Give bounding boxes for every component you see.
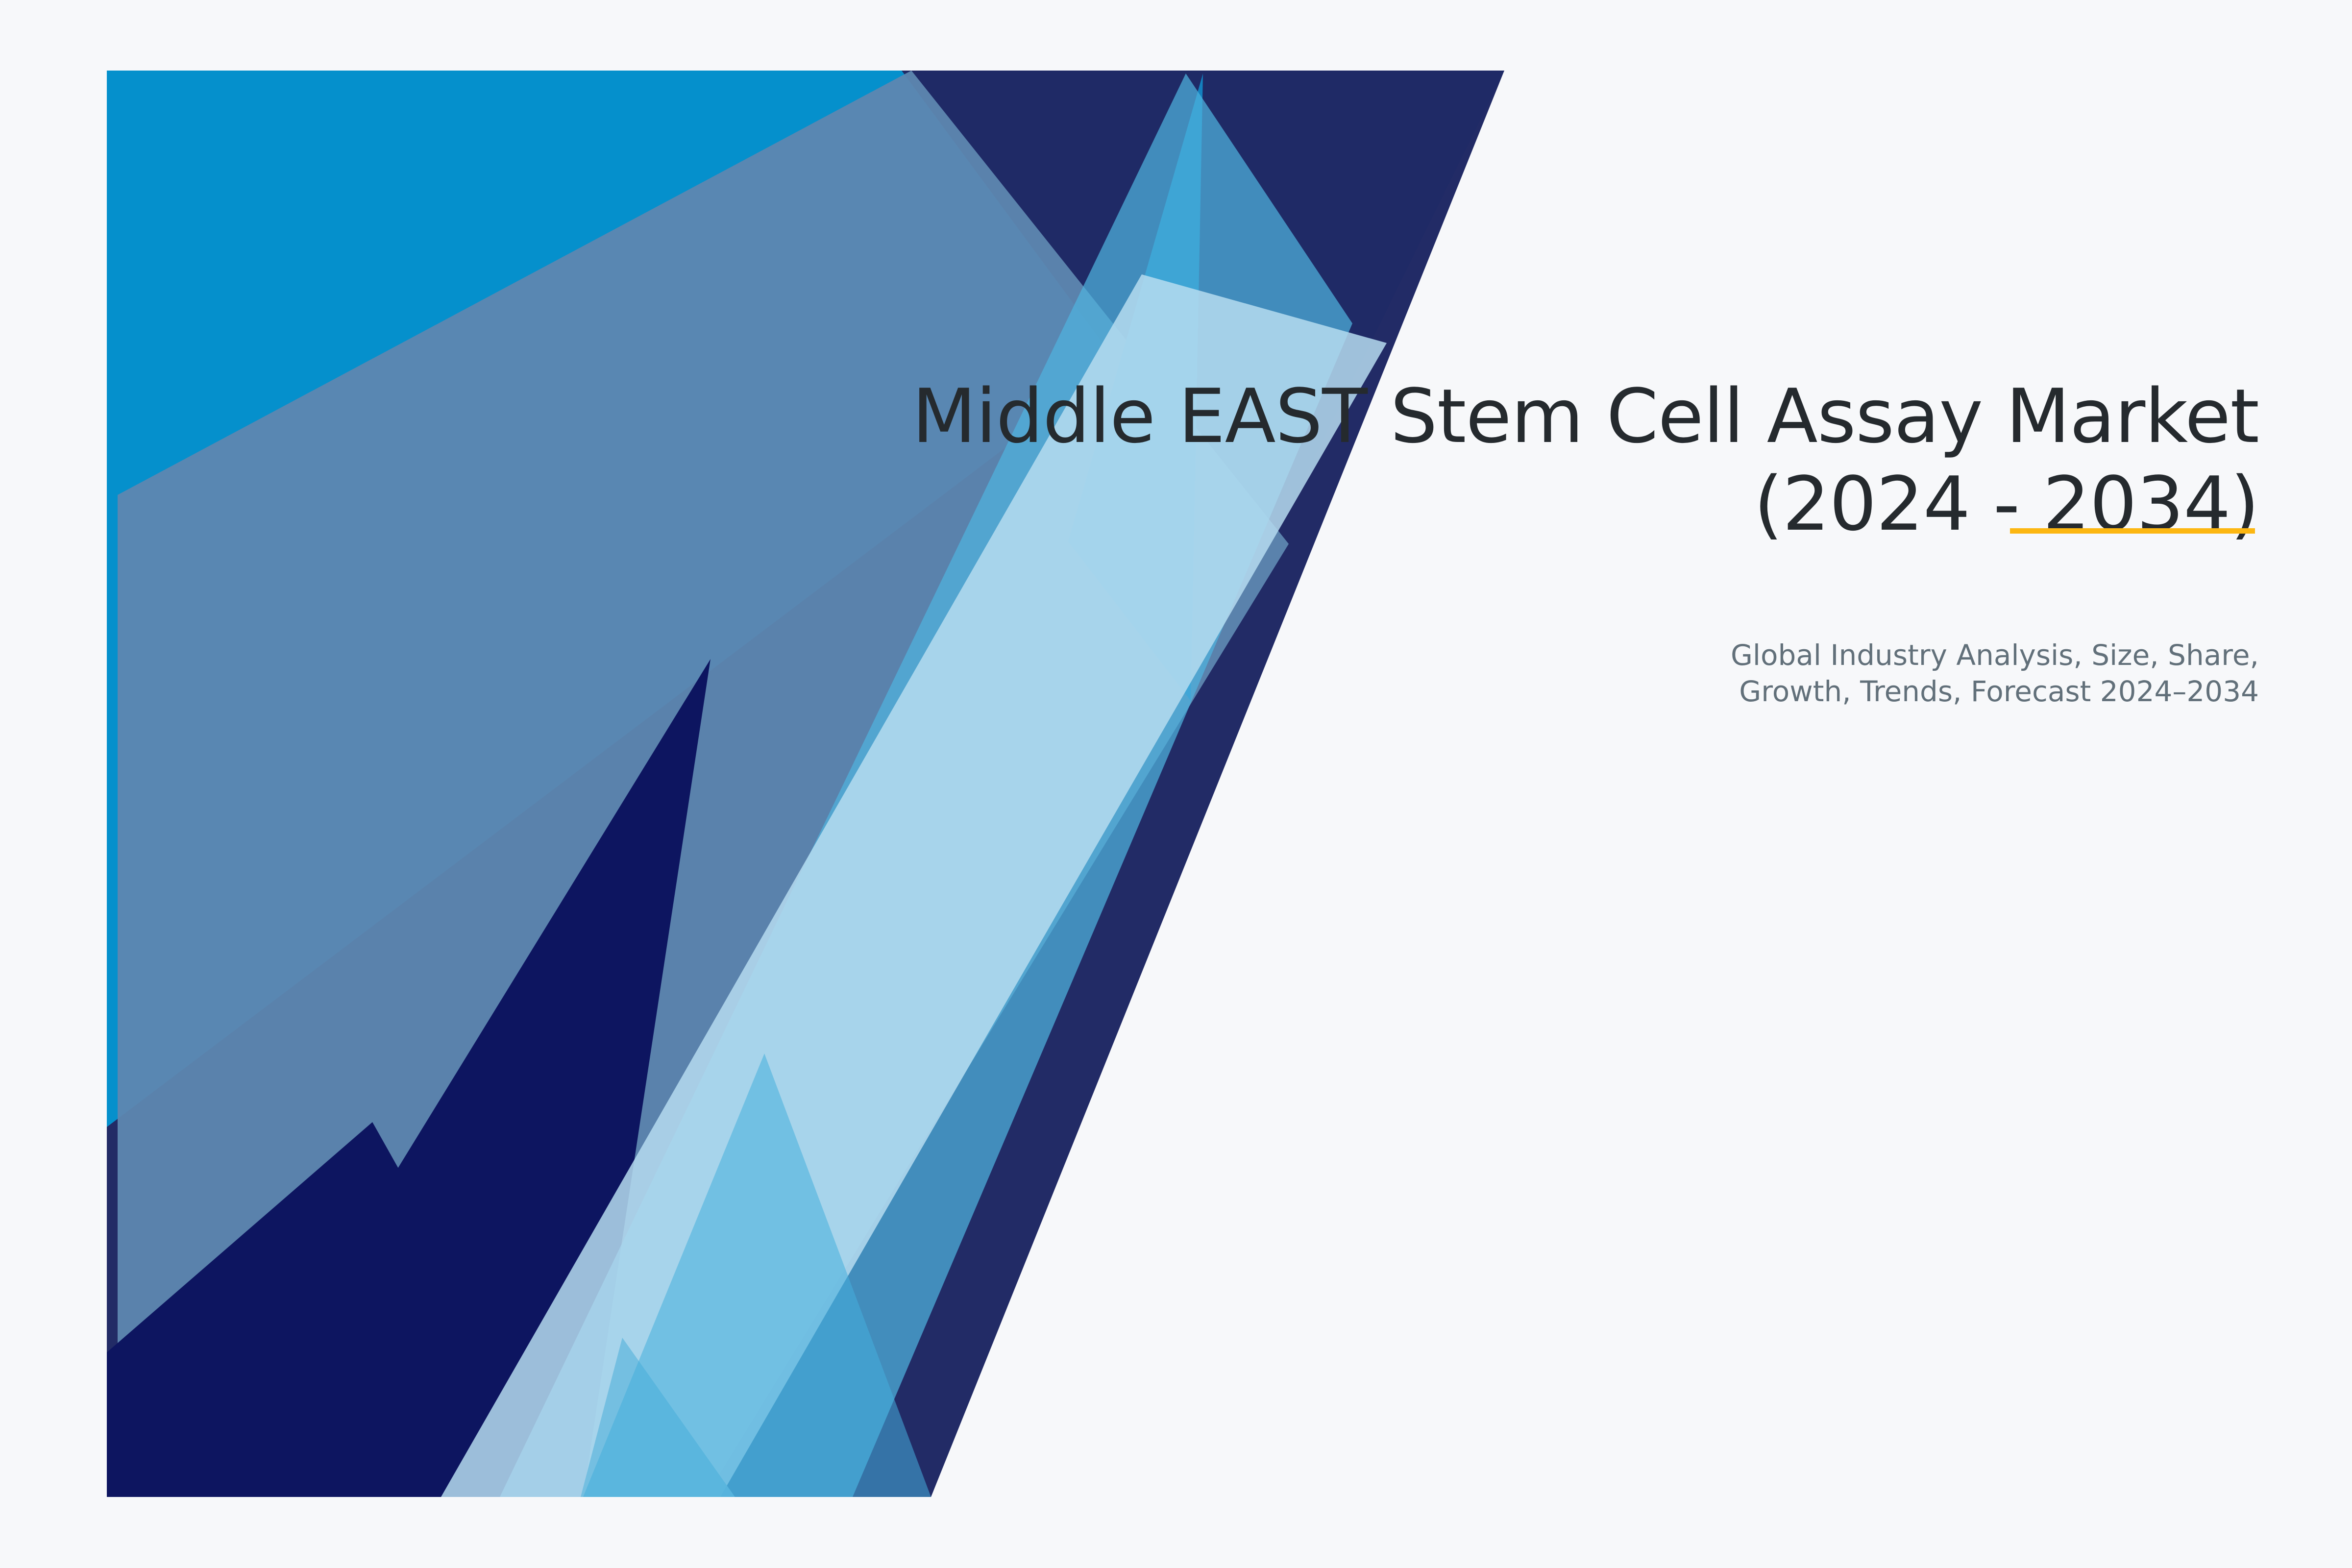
abstract-polygon-cover-graphic [0,0,2352,1568]
page-subtitle: Global Industry Analysis, Size, Share, G… [833,637,2259,710]
title-block: Middle EAST Stem Cell Assay Market (2024… [833,372,2259,548]
page-title: Middle EAST Stem Cell Assay Market (2024… [833,372,2259,548]
title-accent-underline [2010,528,2255,534]
cover-page: Middle EAST Stem Cell Assay Market (2024… [0,0,2352,1568]
